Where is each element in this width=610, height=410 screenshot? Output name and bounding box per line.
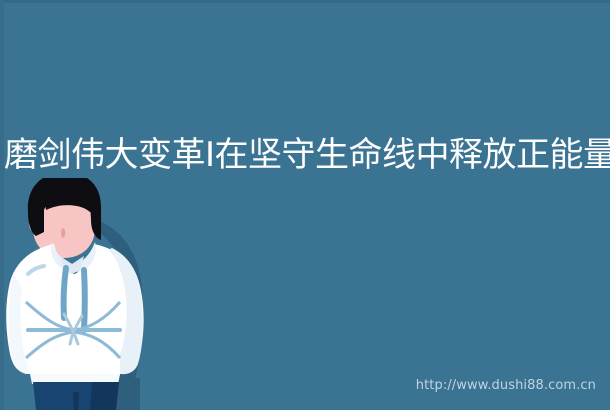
- pants-shade: [90, 382, 119, 410]
- page-title: 磨剑伟大变革I在坚守生命线中释放正能量: [4, 134, 610, 176]
- hair-left-side: [28, 208, 44, 236]
- watermark-url: http://www.dushi88.com.cn: [416, 378, 596, 393]
- person-illustration: [0, 178, 175, 410]
- image-canvas: 磨剑伟大变革I在坚守生命线中释放正能量 http://www.dushi88.c…: [0, 0, 610, 410]
- drawstring-left: [64, 268, 66, 318]
- pants-inseam: [73, 392, 79, 410]
- drawstring-right: [84, 270, 85, 330]
- top-edge-shade: [0, 0, 610, 3]
